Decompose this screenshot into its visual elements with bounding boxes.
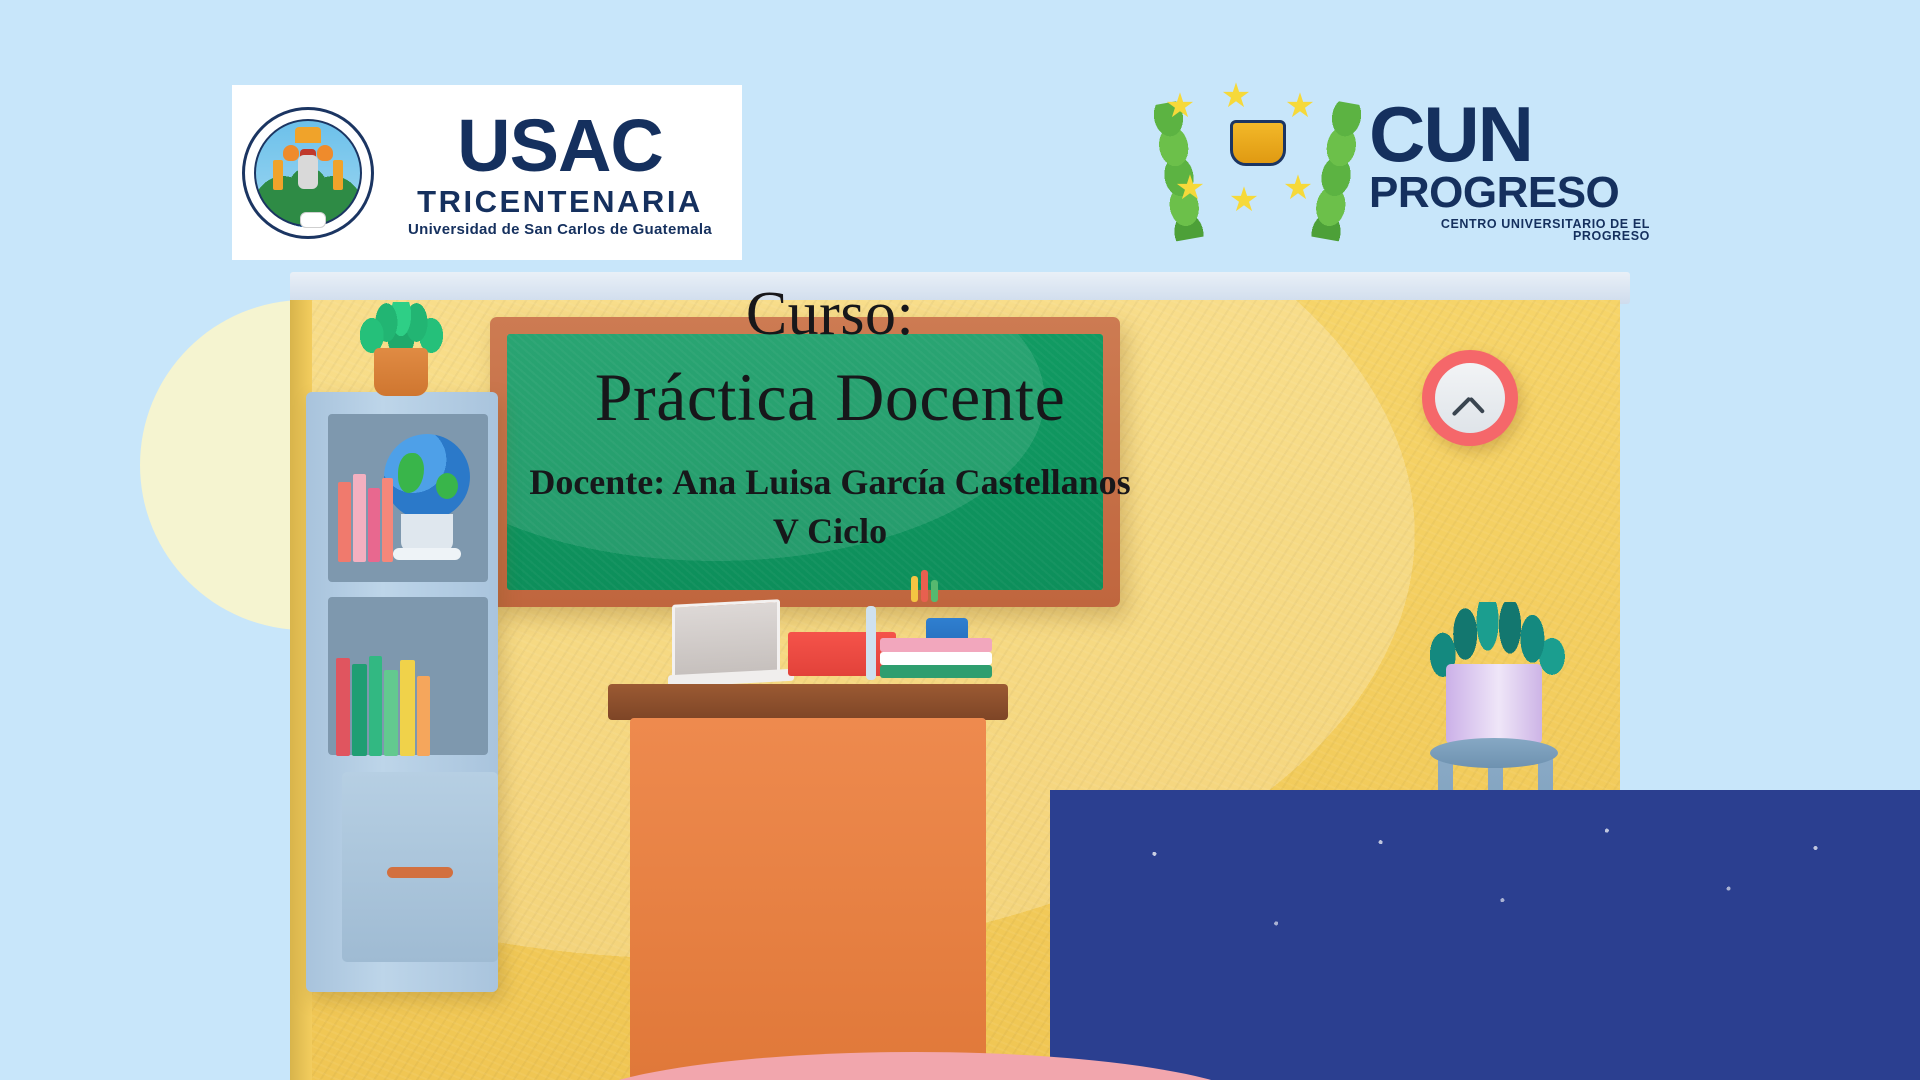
page-title: Práctica Docente bbox=[480, 361, 1180, 434]
cun-wordmark: CUN PROGRESO CENTRO UNIVERSITARIO DE EL … bbox=[1369, 99, 1650, 242]
usac-seal-horse bbox=[300, 212, 326, 228]
usac-seal-figure bbox=[298, 155, 318, 189]
books-shelf-1 bbox=[338, 470, 394, 562]
book-spine bbox=[382, 478, 393, 562]
pencil-cup-icon bbox=[904, 584, 946, 640]
globe-icon bbox=[384, 434, 470, 520]
book-spine bbox=[338, 482, 351, 562]
usac-wordmark-line2: TRICENTENARIA bbox=[388, 186, 732, 217]
usac-seal-lion-left bbox=[283, 145, 299, 161]
laptop-icon bbox=[672, 602, 794, 686]
book-layer bbox=[880, 652, 992, 665]
cun-progreso-logo: ★ ★ ★ ★ ★ ★ CUN PROGRESO CENTRO UNIVERSI… bbox=[1150, 88, 1650, 253]
desk-body bbox=[630, 718, 986, 1080]
plant-pot-icon bbox=[1446, 664, 1542, 744]
book-spine bbox=[400, 660, 415, 756]
laptop-screen bbox=[672, 599, 780, 679]
drawer-handle bbox=[387, 867, 453, 878]
slide-canvas: USAC TRICENTENARIA Universidad de San Ca… bbox=[0, 0, 1920, 1080]
wall-clock-icon bbox=[1422, 350, 1518, 446]
usac-seal-column-right bbox=[333, 160, 343, 190]
clock-minute-hand bbox=[1452, 397, 1472, 417]
floor-area bbox=[1050, 790, 1920, 1080]
usac-seal-column-left bbox=[273, 160, 283, 190]
bookshelf bbox=[306, 392, 498, 992]
book-layer bbox=[880, 665, 992, 678]
potted-plant-shelf bbox=[356, 304, 446, 396]
book-layer bbox=[880, 638, 992, 652]
board-text-block: Curso: Práctica Docente Docente: Ana Lui… bbox=[480, 282, 1180, 552]
cun-wordmark-line1: CUN bbox=[1369, 99, 1650, 171]
cun-wordmark-line2: PROGRESO bbox=[1369, 173, 1650, 213]
instructor-name: Docente: Ana Luisa García Castellanos bbox=[480, 463, 1180, 503]
shelf-drawer bbox=[342, 772, 498, 962]
usac-wordmark-line3: Universidad de San Carlos de Guatemala bbox=[388, 222, 732, 237]
desk-divider bbox=[866, 606, 876, 680]
cun-wreath-emblem-icon: ★ ★ ★ ★ ★ ★ bbox=[1150, 96, 1365, 246]
book-spine bbox=[336, 658, 350, 756]
cun-wordmark-line3: CENTRO UNIVERSITARIO DE EL PROGRESO bbox=[1369, 219, 1650, 242]
book-spine bbox=[417, 676, 430, 756]
plant-pot-icon bbox=[374, 348, 428, 396]
pencil-icon bbox=[931, 580, 938, 602]
floor-speckles bbox=[1050, 790, 1920, 1080]
cycle-label: V Ciclo bbox=[480, 512, 1180, 552]
book-spine bbox=[368, 488, 380, 562]
usac-logo: USAC TRICENTENARIA Universidad de San Ca… bbox=[232, 85, 742, 260]
pencil-icon bbox=[921, 570, 928, 602]
books-shelf-2 bbox=[336, 650, 448, 756]
cun-pot-icon bbox=[1230, 120, 1286, 166]
teacher-desk bbox=[608, 684, 1008, 1080]
stand-ring bbox=[1430, 738, 1558, 768]
usac-seal-lion-right bbox=[317, 145, 333, 161]
globe-stand bbox=[401, 514, 453, 552]
book-spine bbox=[353, 474, 366, 562]
clock-face bbox=[1435, 363, 1505, 433]
course-label: Curso: bbox=[480, 282, 1180, 347]
book-spine bbox=[369, 656, 382, 756]
pencil-icon bbox=[911, 576, 918, 602]
book-spine bbox=[352, 664, 367, 756]
usac-wordmark-line1: USAC bbox=[388, 109, 732, 183]
usac-seal-icon bbox=[242, 107, 374, 239]
usac-seal-crown bbox=[295, 127, 321, 143]
book-stack bbox=[880, 638, 992, 678]
desk-top bbox=[608, 684, 1008, 720]
usac-wordmark: USAC TRICENTENARIA Universidad de San Ca… bbox=[388, 109, 732, 237]
book-spine bbox=[384, 670, 398, 756]
